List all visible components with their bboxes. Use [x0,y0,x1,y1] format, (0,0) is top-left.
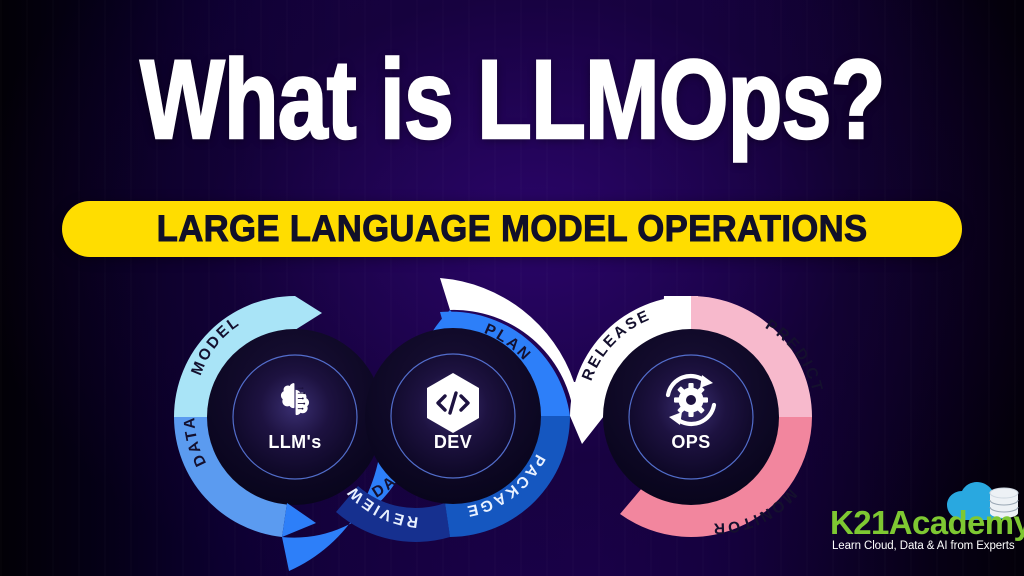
logo-tagline: Learn Cloud, Data & AI from Experts [832,540,1015,552]
llmops-lifecycle-diagram: MODEL DATA [150,272,880,562]
logo-name: K21Academy [830,504,1024,542]
subtitle-text: LARGE LANGUAGE MODEL OPERATIONS [157,208,868,250]
core-label-llms: LLM's [268,432,321,452]
page-title-container: What is LLMOps? [0,44,1024,156]
subtitle-banner: LARGE LANGUAGE MODEL OPERATIONS [62,201,962,257]
slide-canvas: What is LLMOps? LARGE LANGUAGE MODEL OPE… [0,0,1024,576]
core-disc-llms [233,355,357,479]
page-title: What is LLMOps? [140,44,885,156]
brand-logo[interactable]: K21Academy Learn Cloud, Data & AI from E… [830,488,1020,562]
core-label-ops: OPS [671,432,710,452]
stage-dev[interactable]: PLAN PACKAGE REVIEW [336,312,570,542]
core-label-dev: DEV [434,432,472,452]
